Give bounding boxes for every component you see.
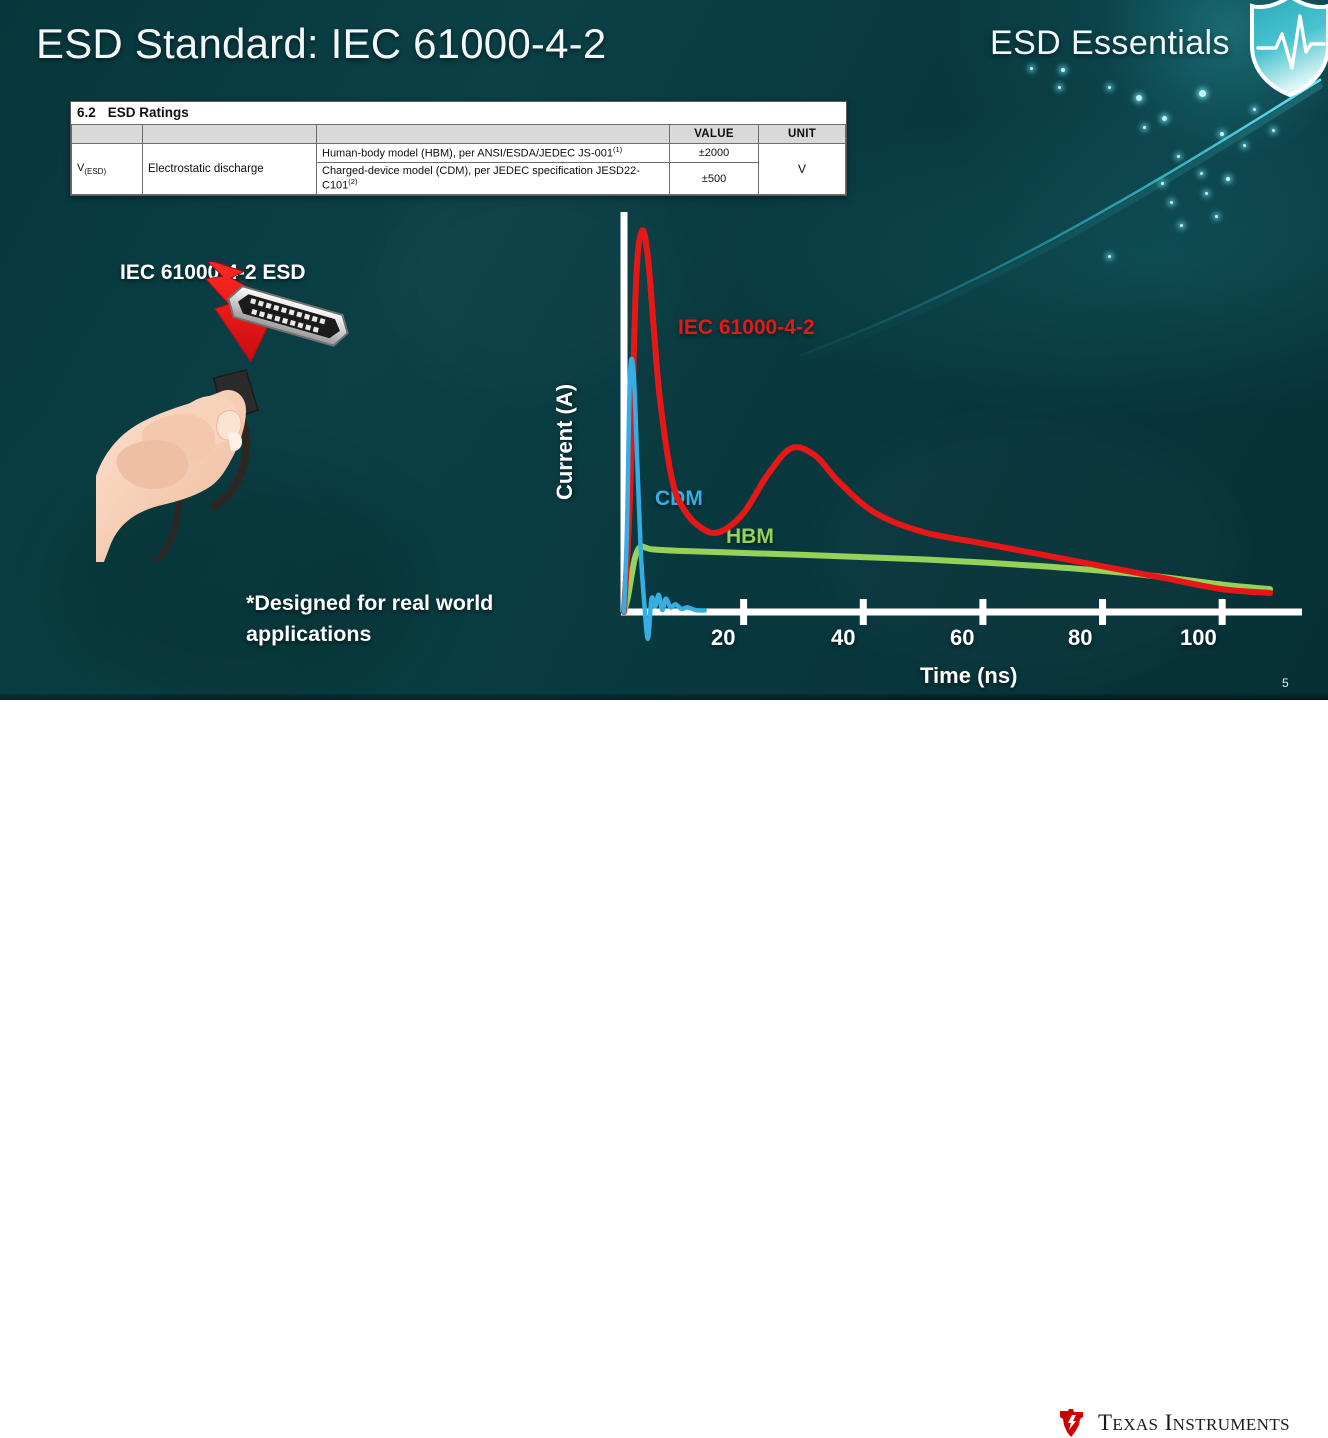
sparkle [1162, 116, 1167, 121]
table-row: V(ESD) Electrostatic discharge Human-bod… [72, 144, 846, 163]
header-spacer-parameter [143, 125, 317, 144]
sparkle [1226, 177, 1230, 181]
table-header-row: VALUE UNIT [72, 125, 846, 144]
page-title: ESD Standard: IEC 61000-4-2 [36, 20, 606, 68]
cell-value-hbm: ±2000 [670, 144, 759, 163]
header-spacer-description [317, 125, 670, 144]
cell-value-cdm: ±500 [670, 163, 759, 195]
esd-shield-icon [1248, 0, 1328, 98]
header-spacer-symbol [72, 125, 143, 144]
real-world-note: *Designed for real world applications [246, 588, 576, 650]
slide-footer: TEXAS INSTRUMENTS [0, 700, 1328, 746]
sparkle [1061, 68, 1065, 72]
sparkle [1205, 192, 1208, 195]
slide-root: ESD Standard: IEC 61000-4-2 ESD Essentia… [0, 0, 1328, 746]
ti-word-texas-rest: EXAS [1112, 1415, 1158, 1434]
slide-canvas: ESD Standard: IEC 61000-4-2 ESD Essentia… [0, 0, 1328, 700]
sparkle [1253, 108, 1256, 111]
table-section-number: 6.2 [77, 105, 96, 120]
page-number: 5 [1282, 676, 1289, 690]
header-unit: UNIT [759, 125, 846, 144]
ti-word-texas-cap: T [1098, 1410, 1112, 1435]
ti-wordmark: TEXAS INSTRUMENTS [1098, 1410, 1290, 1436]
sparkle [1143, 126, 1146, 129]
symbol-subscript: (ESD) [84, 167, 106, 176]
cell-description-hbm: Human-body model (HBM), per ANSI/ESDA/JE… [317, 144, 670, 163]
table-caption: 6.2ESD Ratings [71, 102, 846, 124]
ti-texas-mark-icon [1054, 1408, 1088, 1438]
cell-symbol: V(ESD) [72, 144, 143, 195]
sparkle [1177, 155, 1180, 158]
table-section-title: ESD Ratings [108, 105, 189, 120]
esd-ratings-table: 6.2ESD Ratings VALUE UNIT V(ESD) Electro… [70, 101, 847, 196]
sparkle [1272, 129, 1275, 132]
hand-connector-illustration [96, 262, 426, 562]
sparkle [1058, 86, 1061, 89]
sparkle [1220, 132, 1224, 136]
footnote-marker: (2) [348, 177, 357, 186]
sparkle [1200, 172, 1203, 175]
chart-plot-area [560, 200, 1320, 670]
cell-unit: V [759, 144, 846, 195]
sparkle [1108, 86, 1111, 89]
footnote-marker: (1) [613, 145, 622, 154]
sparkle [1030, 67, 1033, 70]
description-text: Charged-device model (CDM), per JEDEC sp… [322, 165, 640, 191]
sparkle [1136, 95, 1142, 101]
ti-word-instruments-rest: NSTRUMENTS [1173, 1415, 1290, 1434]
brand-badge-label: ESD Essentials [990, 24, 1230, 63]
header-value: VALUE [670, 125, 759, 144]
description-text: Human-body model (HBM), per ANSI/ESDA/JE… [322, 148, 613, 160]
sparkle [1243, 144, 1246, 147]
cell-parameter: Electrostatic discharge [143, 144, 317, 195]
chart-series-cdm [624, 359, 705, 639]
sparkle [1199, 90, 1206, 97]
texas-instruments-logo: TEXAS INSTRUMENTS [1054, 1408, 1290, 1438]
sparkle [1161, 182, 1164, 185]
esd-waveform-chart: Current (A) Time (ns) IEC 61000-4-2 CDM … [560, 200, 1320, 700]
cell-description-cdm: Charged-device model (CDM), per JEDEC sp… [317, 163, 670, 195]
ti-word-instruments-cap: I [1165, 1410, 1173, 1435]
